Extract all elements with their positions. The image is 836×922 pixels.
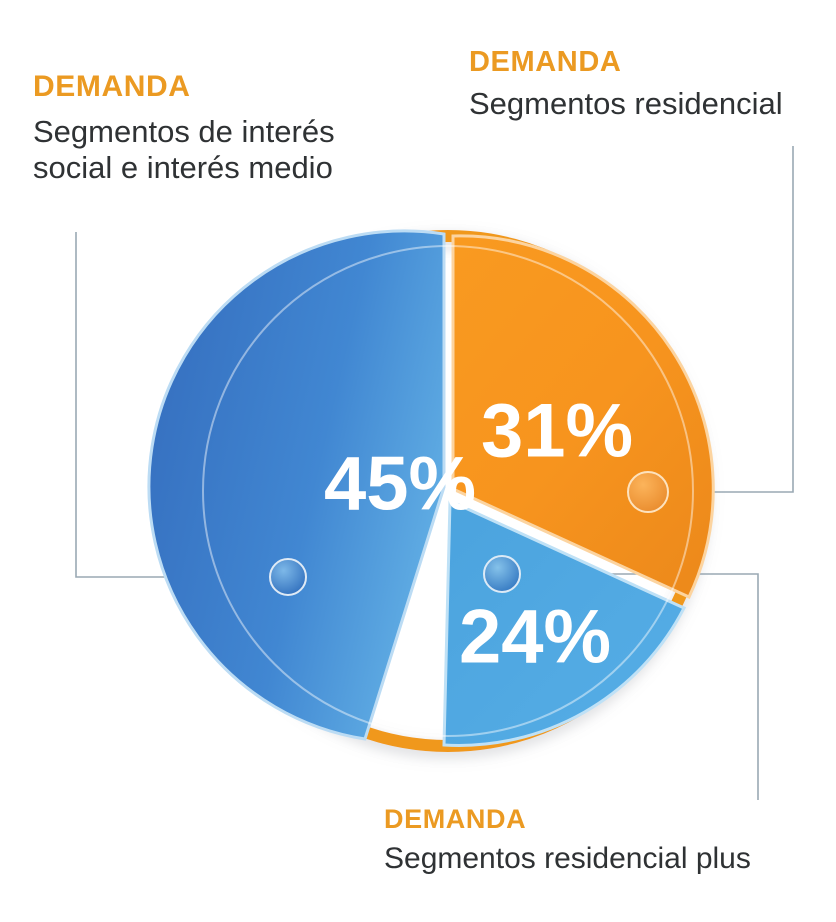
pie-value-social: 45% — [324, 442, 476, 527]
pie-value-residencial: 31% — [481, 389, 633, 474]
callout-residencial-plus: DEMANDA Segmentos residencial plus — [384, 806, 751, 877]
callout-social-description-line2: social e interés medio — [33, 150, 335, 186]
callout-social-kicker: DEMANDA — [33, 72, 335, 102]
pie-chart-infographic: 45% 31% 24% DEMANDA Segmentos de interés… — [0, 0, 836, 922]
marker-dot-residencial[interactable] — [628, 472, 668, 512]
marker-dot-social[interactable] — [270, 559, 306, 595]
pie-value-residencial-plus: 24% — [459, 595, 611, 680]
callout-social-description-line1: Segmentos de interés — [33, 114, 335, 150]
callout-social-description: Segmentos de interés social e interés me… — [33, 114, 335, 186]
callout-residencial-plus-description: Segmentos residencial plus — [384, 842, 751, 877]
callout-residencial: DEMANDA Segmentos residencial — [469, 48, 783, 122]
callout-social: DEMANDA Segmentos de interés social e in… — [33, 72, 335, 186]
callout-residencial-description: Segmentos residencial — [469, 86, 783, 122]
callout-residencial-kicker: DEMANDA — [469, 48, 783, 77]
callout-residencial-plus-kicker: DEMANDA — [384, 806, 751, 833]
marker-dot-residencial-plus[interactable] — [484, 556, 520, 592]
